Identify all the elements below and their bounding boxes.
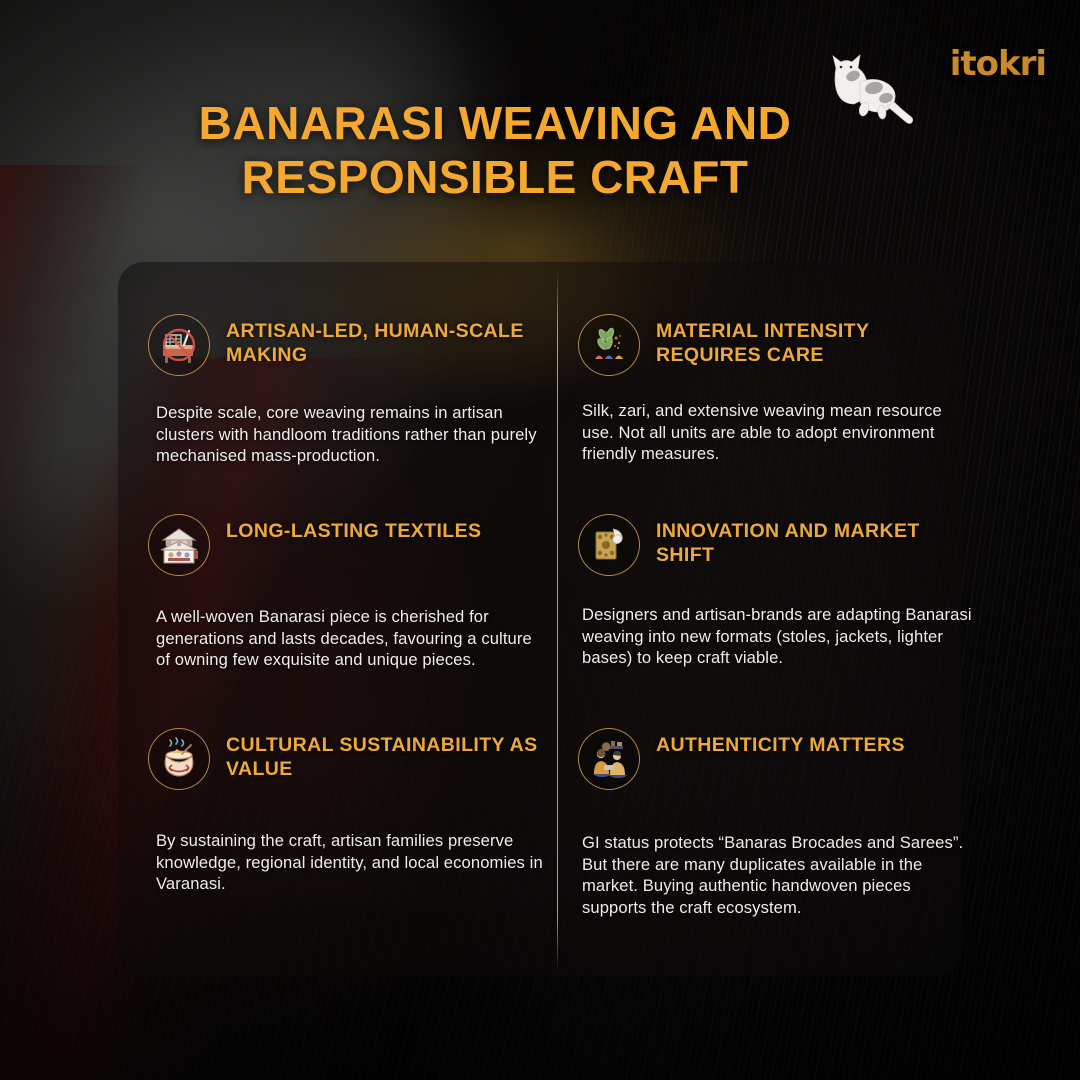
card-cultural-sustainability: CULTURAL SUSTAINABILITY AS VALUE By sust… (148, 728, 548, 895)
card-body: A well-woven Banarasi piece is cherished… (148, 606, 548, 671)
card-header: AUTHENTICITY MATTERS (578, 728, 978, 790)
leaves-dye-powder-icon (578, 314, 640, 376)
card-title: MATERIAL INTENSITY REQUIRES CARE (656, 314, 978, 368)
hand-holding-fabric-swatch-icon (578, 514, 640, 576)
card-header: MATERIAL INTENSITY REQUIRES CARE (578, 314, 978, 376)
steaming-dye-pot-icon (148, 728, 210, 790)
card-title: CULTURAL SUSTAINABILITY AS VALUE (226, 728, 548, 782)
craft-shop-icon (148, 514, 210, 576)
card-body: GI status protects “Banaras Brocades and… (578, 832, 978, 918)
card-body: Silk, zari, and extensive weaving mean r… (578, 400, 978, 465)
card-innovation-market-shift: INNOVATION AND MARKET SHIFT Designers an… (578, 514, 978, 669)
poster-header: BANARASI WEAVING AND RESPONSIBLE CRAFT i… (0, 0, 1080, 250)
card-material-intensity: MATERIAL INTENSITY REQUIRES CARE Silk, z… (578, 314, 978, 465)
card-title: LONG-LASTING TEXTILES (226, 514, 481, 544)
card-header: INNOVATION AND MARKET SHIFT (578, 514, 978, 576)
card-authenticity-matters: AUTHENTICITY MATTERS GI status protects … (578, 728, 978, 918)
page-title-line-1: BANARASI WEAVING AND (90, 96, 900, 150)
cat-mark-icon (824, 46, 920, 124)
page-title-line-2: RESPONSIBLE CRAFT (90, 150, 900, 204)
card-header: CULTURAL SUSTAINABILITY AS VALUE (148, 728, 548, 790)
card-title: ARTISAN-LED, HUMAN-SCALE MAKING (226, 314, 548, 368)
page-title: BANARASI WEAVING AND RESPONSIBLE CRAFT (90, 96, 900, 205)
card-title: AUTHENTICITY MATTERS (656, 728, 905, 758)
card-header: LONG-LASTING TEXTILES (148, 514, 548, 576)
card-body: By sustaining the craft, artisan familie… (148, 830, 548, 895)
infographic-poster: BANARASI WEAVING AND RESPONSIBLE CRAFT i… (0, 0, 1080, 1080)
two-artisans-icon (578, 728, 640, 790)
no-machine-loom-icon (148, 314, 210, 376)
card-body: Designers and artisan-brands are adaptin… (578, 604, 978, 669)
card-grid: ARTISAN-LED, HUMAN-SCALE MAKING Despite … (118, 262, 962, 976)
card-header: ARTISAN-LED, HUMAN-SCALE MAKING (148, 314, 548, 376)
card-body: Despite scale, core weaving remains in a… (148, 402, 548, 467)
card-long-lasting-textiles: LONG-LASTING TEXTILES A well-woven Banar… (148, 514, 548, 671)
card-title: INNOVATION AND MARKET SHIFT (656, 514, 978, 568)
card-artisan-led: ARTISAN-LED, HUMAN-SCALE MAKING Despite … (148, 314, 548, 467)
brand-logo: itokri (950, 44, 1046, 84)
